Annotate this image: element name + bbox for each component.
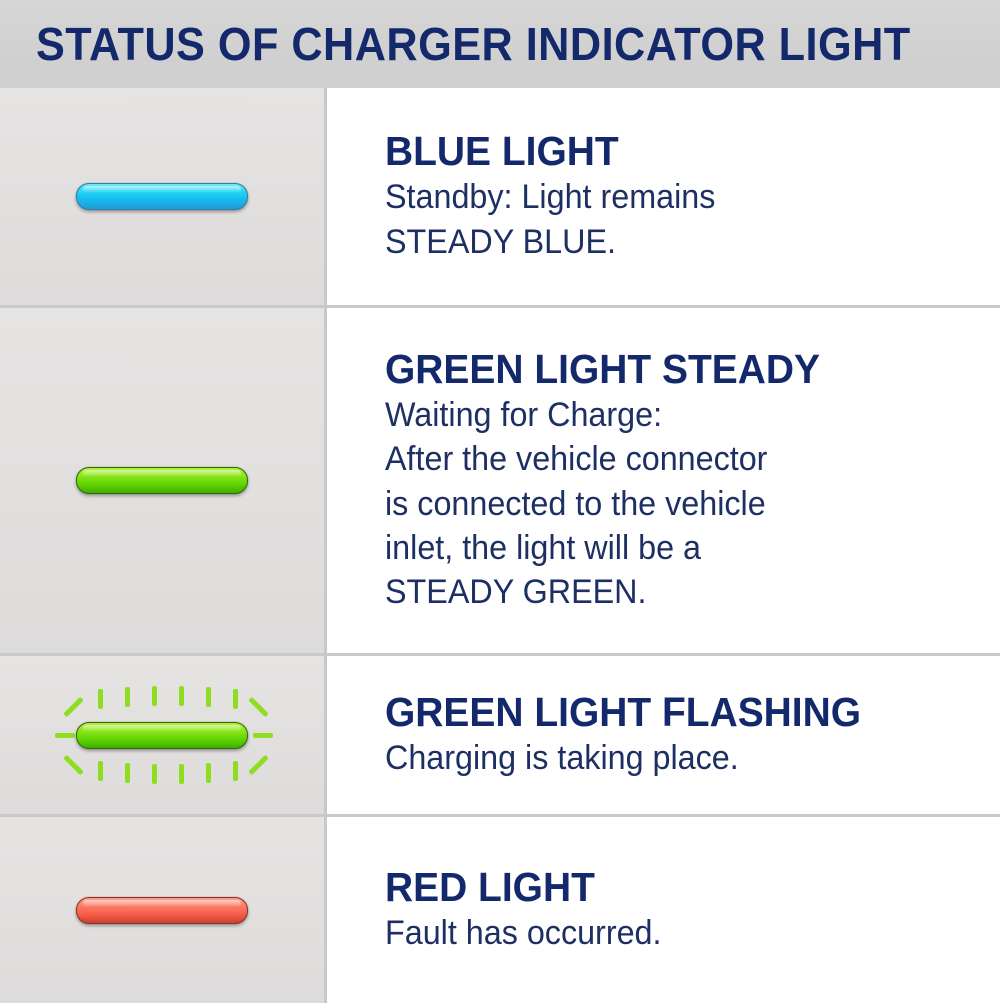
table-row: GREEN LIGHT STEADY Waiting for Charge: A… [0, 305, 1000, 653]
description-cell: GREEN LIGHT STEADY Waiting for Charge: A… [327, 308, 1000, 653]
status-heading: GREEN LIGHT FLASHING [385, 690, 969, 734]
lamp-wrap [57, 675, 267, 795]
green-indicator-light [76, 467, 248, 494]
status-table: BLUE LIGHT Standby: Light remains STEADY… [0, 88, 1000, 1000]
status-heading: BLUE LIGHT [385, 129, 969, 173]
indicator-cell [0, 88, 327, 305]
green-flashing-indicator-light [76, 722, 248, 749]
status-description: Standby: Light remains STEADY BLUE. [385, 175, 969, 263]
status-description: Charging is taking place. [385, 736, 969, 780]
lamp-wrap [57, 850, 267, 970]
lamp-wrap [57, 137, 267, 257]
page-title: STATUS OF CHARGER INDICATOR LIGHT [36, 21, 911, 67]
table-row: GREEN LIGHT FLASHING Charging is taking … [0, 653, 1000, 814]
indicator-cell [0, 817, 327, 1003]
indicator-cell [0, 656, 327, 814]
table-row: RED LIGHT Fault has occurred. [0, 814, 1000, 1003]
page-header: STATUS OF CHARGER INDICATOR LIGHT [0, 0, 1000, 88]
status-description: Fault has occurred. [385, 911, 969, 955]
description-cell: GREEN LIGHT FLASHING Charging is taking … [327, 656, 1000, 814]
lamp-wrap [57, 421, 267, 541]
status-description: Waiting for Charge: After the vehicle co… [385, 393, 969, 614]
charger-indicator-status-panel: STATUS OF CHARGER INDICATOR LIGHT BLUE L… [0, 0, 1000, 1000]
status-heading: RED LIGHT [385, 865, 969, 909]
red-indicator-light [76, 897, 248, 924]
indicator-cell [0, 308, 327, 653]
table-row: BLUE LIGHT Standby: Light remains STEADY… [0, 88, 1000, 305]
blue-indicator-light [76, 183, 248, 210]
description-cell: BLUE LIGHT Standby: Light remains STEADY… [327, 88, 1000, 305]
status-heading: GREEN LIGHT STEADY [385, 347, 969, 391]
description-cell: RED LIGHT Fault has occurred. [327, 817, 1000, 1003]
